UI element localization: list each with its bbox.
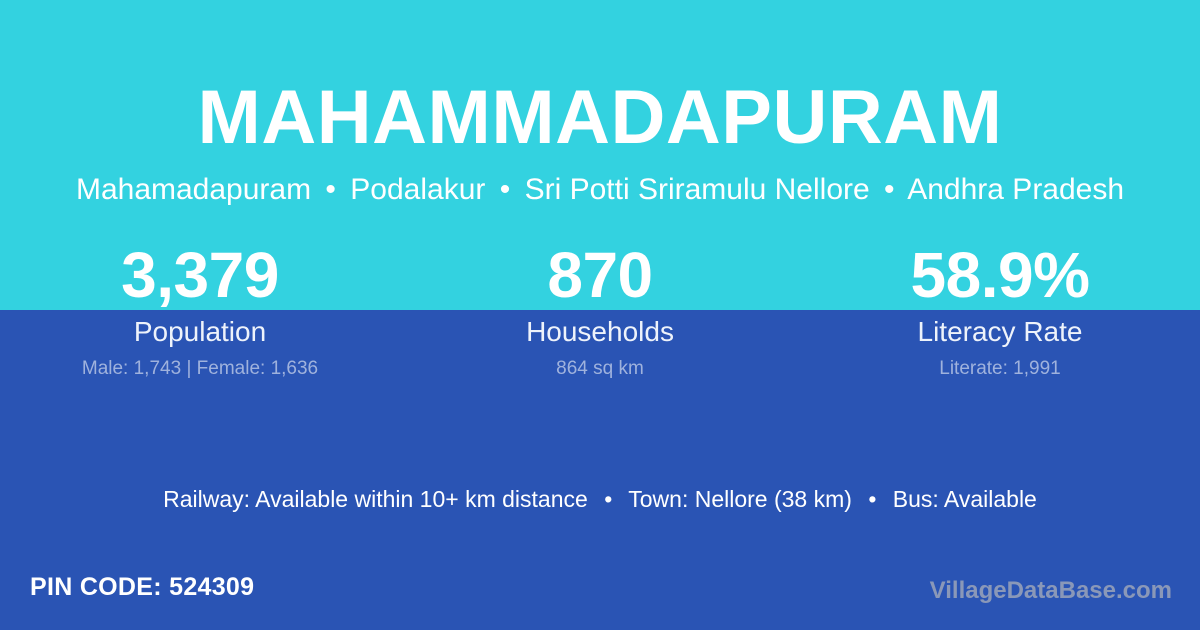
- card-header: MAHAMMADAPURAM Mahamadapuram • Podalakur…: [0, 0, 1200, 208]
- breadcrumb-item-village: Mahamadapuram: [76, 173, 311, 206]
- breadcrumb-separator: •: [494, 172, 517, 208]
- amenity-town: Town: Nellore (38 km): [628, 486, 852, 512]
- village-info-card: MAHAMMADAPURAM Mahamadapuram • Podalakur…: [0, 0, 1200, 630]
- stat-population: 3,379 Population Male: 1,743 | Female: 1…: [0, 240, 400, 380]
- breadcrumb-item-mandal: Podalakur: [350, 173, 485, 206]
- amenity-bus: Bus: Available: [893, 486, 1037, 512]
- stat-label: Population: [0, 316, 400, 348]
- stat-value: 870: [400, 240, 800, 310]
- amenity-separator: •: [858, 484, 886, 514]
- stats-row: 3,379 Population Male: 1,743 | Female: 1…: [0, 240, 1200, 380]
- stat-literacy-rate: 58.9% Literacy Rate Literate: 1,991: [800, 240, 1200, 380]
- breadcrumb-item-district: Sri Potti Sriramulu Nellore: [525, 173, 870, 206]
- page-title: MAHAMMADAPURAM: [0, 0, 1200, 158]
- amenities-line: Railway: Available within 10+ km distanc…: [0, 484, 1200, 514]
- amenity-railway: Railway: Available within 10+ km distanc…: [163, 486, 588, 512]
- stat-value: 3,379: [0, 240, 400, 310]
- amenity-separator: •: [594, 484, 622, 514]
- stat-households: 870 Households 864 sq km: [400, 240, 800, 380]
- stat-detail: Male: 1,743 | Female: 1,636: [0, 358, 400, 380]
- card-footer: PIN CODE: 524309 VillageDataBase.com: [0, 564, 1200, 630]
- stat-label: Literacy Rate: [800, 316, 1200, 348]
- stat-detail: 864 sq km: [400, 358, 800, 380]
- site-watermark: VillageDataBase.com: [930, 577, 1172, 605]
- stat-detail: Literate: 1,991: [800, 358, 1200, 380]
- breadcrumb-separator: •: [878, 172, 901, 208]
- breadcrumb: Mahamadapuram • Podalakur • Sri Potti Sr…: [0, 172, 1200, 208]
- breadcrumb-separator: •: [319, 172, 342, 208]
- stat-value: 58.9%: [800, 240, 1200, 310]
- breadcrumb-item-state: Andhra Pradesh: [907, 173, 1124, 206]
- stat-label: Households: [400, 316, 800, 348]
- pin-code: PIN CODE: 524309: [30, 572, 254, 602]
